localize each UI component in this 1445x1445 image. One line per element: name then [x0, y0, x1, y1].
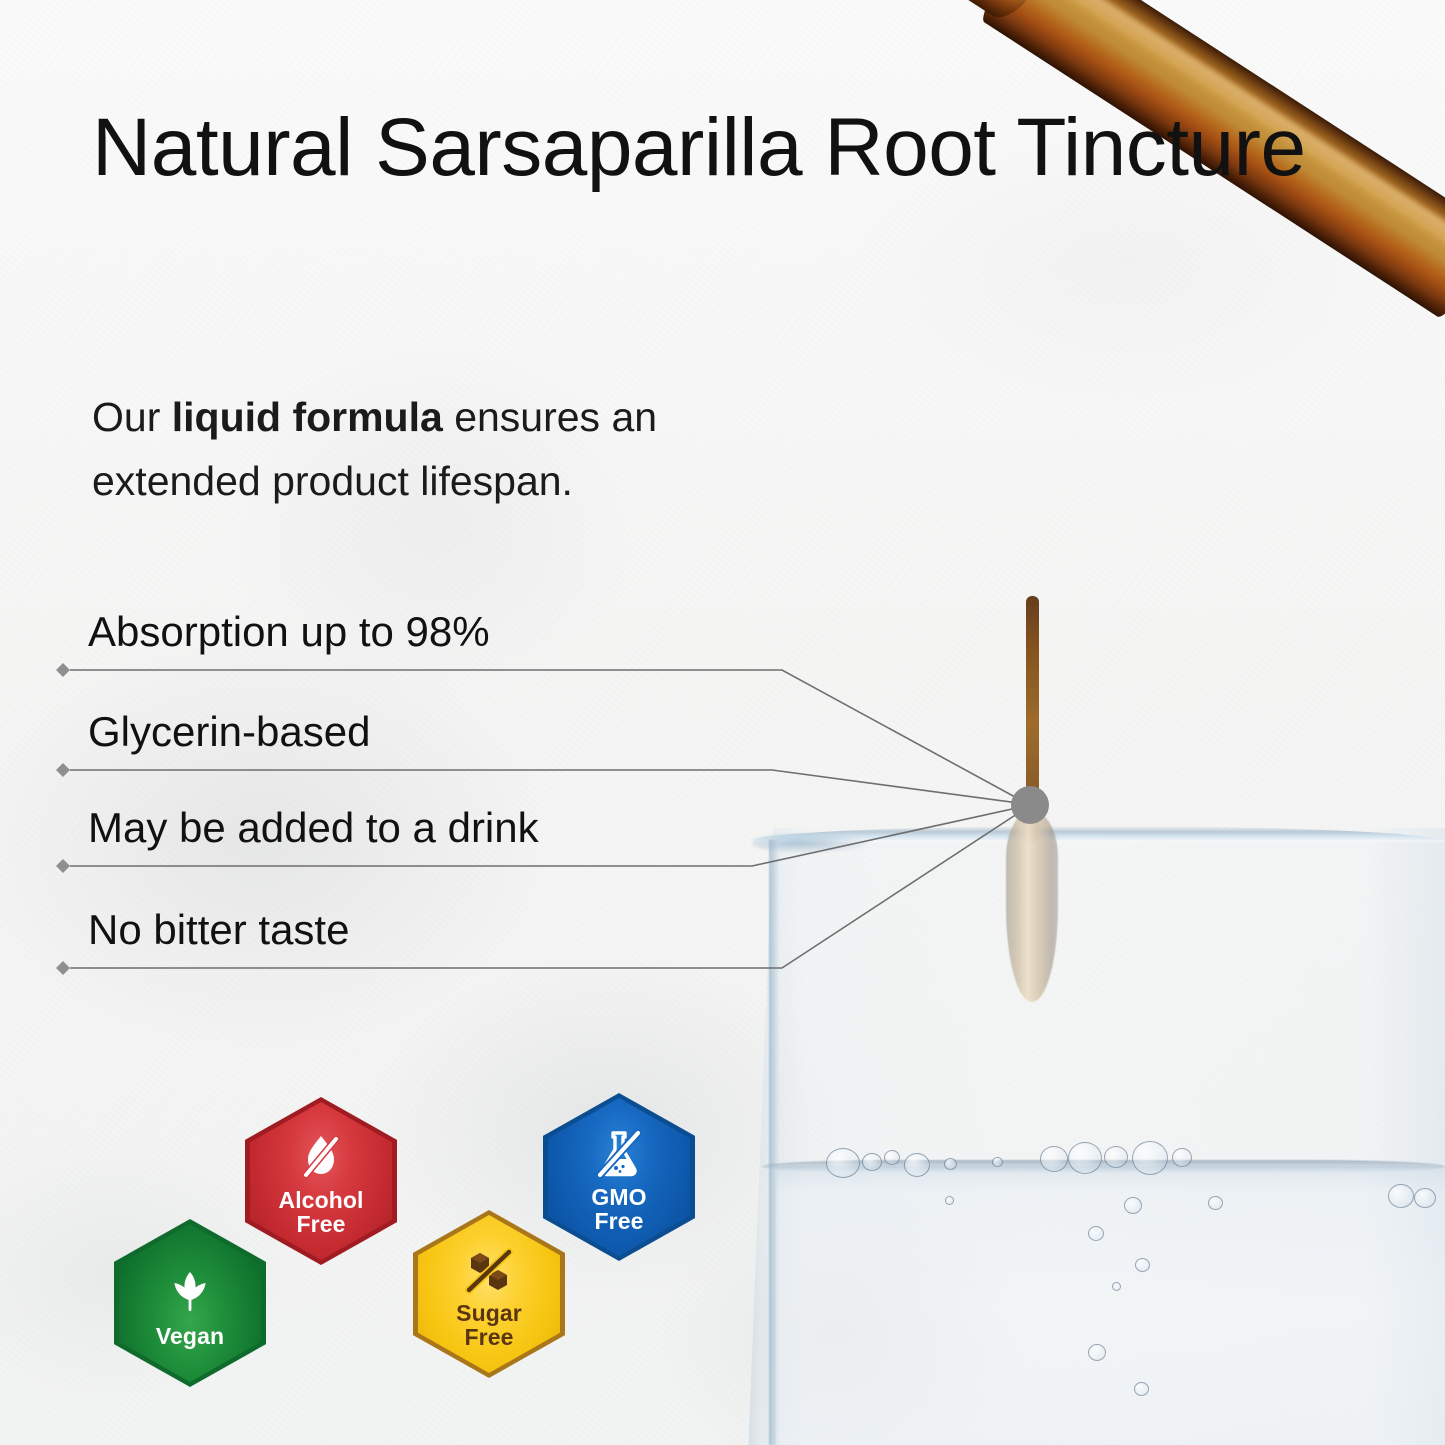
bubble: [862, 1153, 882, 1171]
subheading-prefix: Our: [92, 394, 172, 440]
badge-sugar-inner: SugarFree: [418, 1215, 560, 1373]
bubble: [1414, 1188, 1436, 1208]
bubble: [1388, 1184, 1414, 1208]
badge-vegan-label: Vegan: [156, 1325, 224, 1348]
feature-label-absorption: Absorption up to 98%: [88, 611, 490, 653]
bubble: [884, 1150, 900, 1165]
bubble: [1132, 1141, 1168, 1175]
badge-alcohol-inner: AlcoholFree: [250, 1102, 392, 1260]
bubble: [1124, 1197, 1142, 1214]
bubble: [1172, 1148, 1192, 1167]
bubble: [904, 1153, 930, 1177]
subheading-emphasis: liquid formula: [172, 394, 443, 440]
badge-gmo-free[interactable]: GMOFree: [543, 1093, 695, 1261]
badge-alcohol-free[interactable]: AlcoholFree: [245, 1097, 397, 1265]
bubble: [1134, 1382, 1149, 1396]
tincture-stream: [1026, 596, 1039, 810]
sugar-cubes-slash-icon: [463, 1245, 515, 1297]
bubble: [945, 1196, 954, 1205]
bubble: [826, 1148, 860, 1178]
bubble: [944, 1158, 957, 1170]
tincture-droplet: [1006, 812, 1058, 1002]
bubble: [1068, 1142, 1102, 1174]
flask-slash-icon: [592, 1127, 646, 1181]
badge-gmo-label: GMOFree: [591, 1186, 646, 1233]
badge-sugar-free[interactable]: SugarFree: [413, 1210, 565, 1378]
droplet-slash-icon: [295, 1132, 347, 1184]
bubble: [1112, 1282, 1121, 1291]
bubble: [992, 1157, 1003, 1167]
feature-label-taste: No bitter taste: [88, 909, 349, 951]
water-body: [776, 1166, 1445, 1445]
infographic-canvas: Natural Sarsaparilla Root Tincture Our l…: [0, 0, 1445, 1445]
page-title: Natural Sarsaparilla Root Tincture: [92, 95, 1402, 202]
badge-alcohol-label: AlcoholFree: [278, 1189, 363, 1236]
badge-vegan-inner: Vegan: [119, 1224, 261, 1382]
badge-sugar-label: SugarFree: [456, 1302, 522, 1349]
bubble: [1040, 1146, 1068, 1172]
bubble: [1135, 1258, 1150, 1272]
bubble: [1088, 1344, 1106, 1361]
badge-gmo-inner: GMOFree: [548, 1098, 690, 1256]
leaf-icon: [162, 1264, 218, 1320]
certification-badges: Vegan AlcoholFree: [100, 1085, 750, 1395]
badge-vegan[interactable]: Vegan: [114, 1219, 266, 1387]
bubble: [1208, 1196, 1223, 1210]
subheading: Our liquid formula ensures an extended p…: [92, 386, 812, 513]
feature-label-drink: May be added to a drink: [88, 807, 539, 849]
bubble: [1088, 1226, 1104, 1241]
feature-label-glycerin: Glycerin-based: [88, 711, 370, 753]
bubble: [1104, 1146, 1128, 1168]
